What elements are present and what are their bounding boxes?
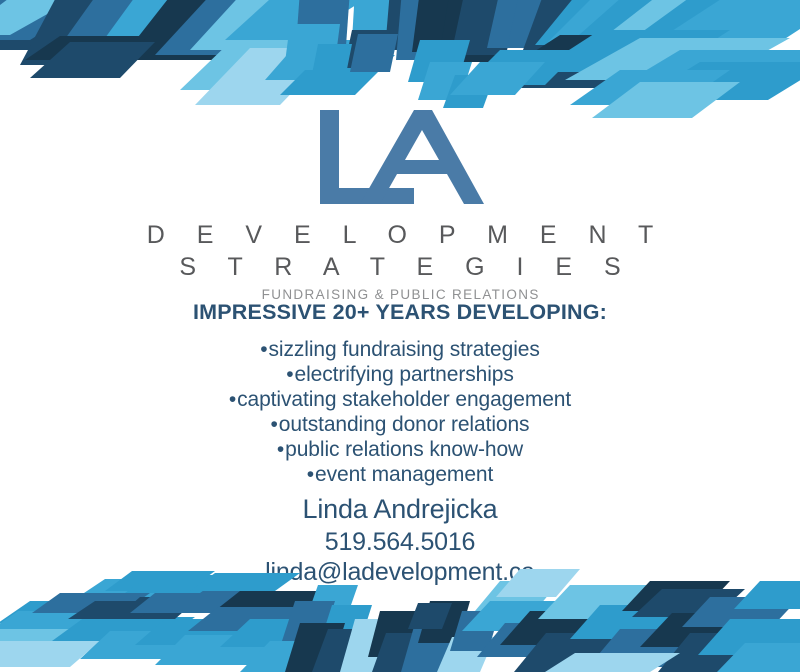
list-item: •outstanding donor relations: [0, 412, 800, 437]
bullet-icon: •: [260, 338, 267, 361]
list-item: •event management: [0, 462, 800, 487]
list-item-label: public relations know-how: [285, 438, 523, 461]
list-item: •electrifying partnerships: [0, 362, 800, 387]
contact-email[interactable]: linda@ladevelopment.ca: [0, 557, 800, 588]
headline: IMPRESSIVE 20+ YEARS DEVELOPING:: [0, 300, 800, 325]
top-left-shapes: [0, 0, 395, 105]
list-item-label: event management: [315, 463, 493, 486]
list-item-label: sizzling fundraising strategies: [269, 338, 540, 361]
list-item-label: electrifying partnerships: [294, 363, 513, 386]
list-item-label: captivating stakeholder engagement: [237, 388, 571, 411]
top-center-shapes: [284, 0, 545, 108]
logo-wordmark-development: D E V E L O P M E N T: [0, 220, 800, 252]
business-card: D E V E L O P M E N T S T R A T E G I E …: [0, 0, 800, 672]
logo-block: D E V E L O P M E N T S T R A T E G I E …: [0, 108, 800, 302]
list-item: •sizzling fundraising strategies: [0, 337, 800, 362]
contact-name: Linda Andrejicka: [0, 493, 800, 527]
list-item: •public relations know-how: [0, 437, 800, 462]
list-item: •captivating stakeholder engagement: [0, 387, 800, 412]
bullet-icon: •: [286, 363, 293, 386]
list-item-label: outstanding donor relations: [279, 413, 530, 436]
contact-block: Linda Andrejicka 519.564.5016 linda@lade…: [0, 493, 800, 588]
bullet-icon: •: [277, 438, 284, 461]
logo-wordmark-strategies: S T R A T E G I E S: [0, 252, 800, 284]
contact-phone[interactable]: 519.564.5016: [0, 527, 800, 558]
benefits-list: •sizzling fundraising strategies •electr…: [0, 337, 800, 488]
bottom-center-shapes: [282, 585, 500, 672]
bullet-icon: •: [307, 463, 314, 486]
bullet-icon: •: [271, 413, 278, 436]
message-block: IMPRESSIVE 20+ YEARS DEVELOPING: •sizzli…: [0, 300, 800, 488]
bullet-icon: •: [229, 388, 236, 411]
top-right-shapes: [450, 0, 800, 118]
la-monogram-icon: [314, 108, 486, 206]
